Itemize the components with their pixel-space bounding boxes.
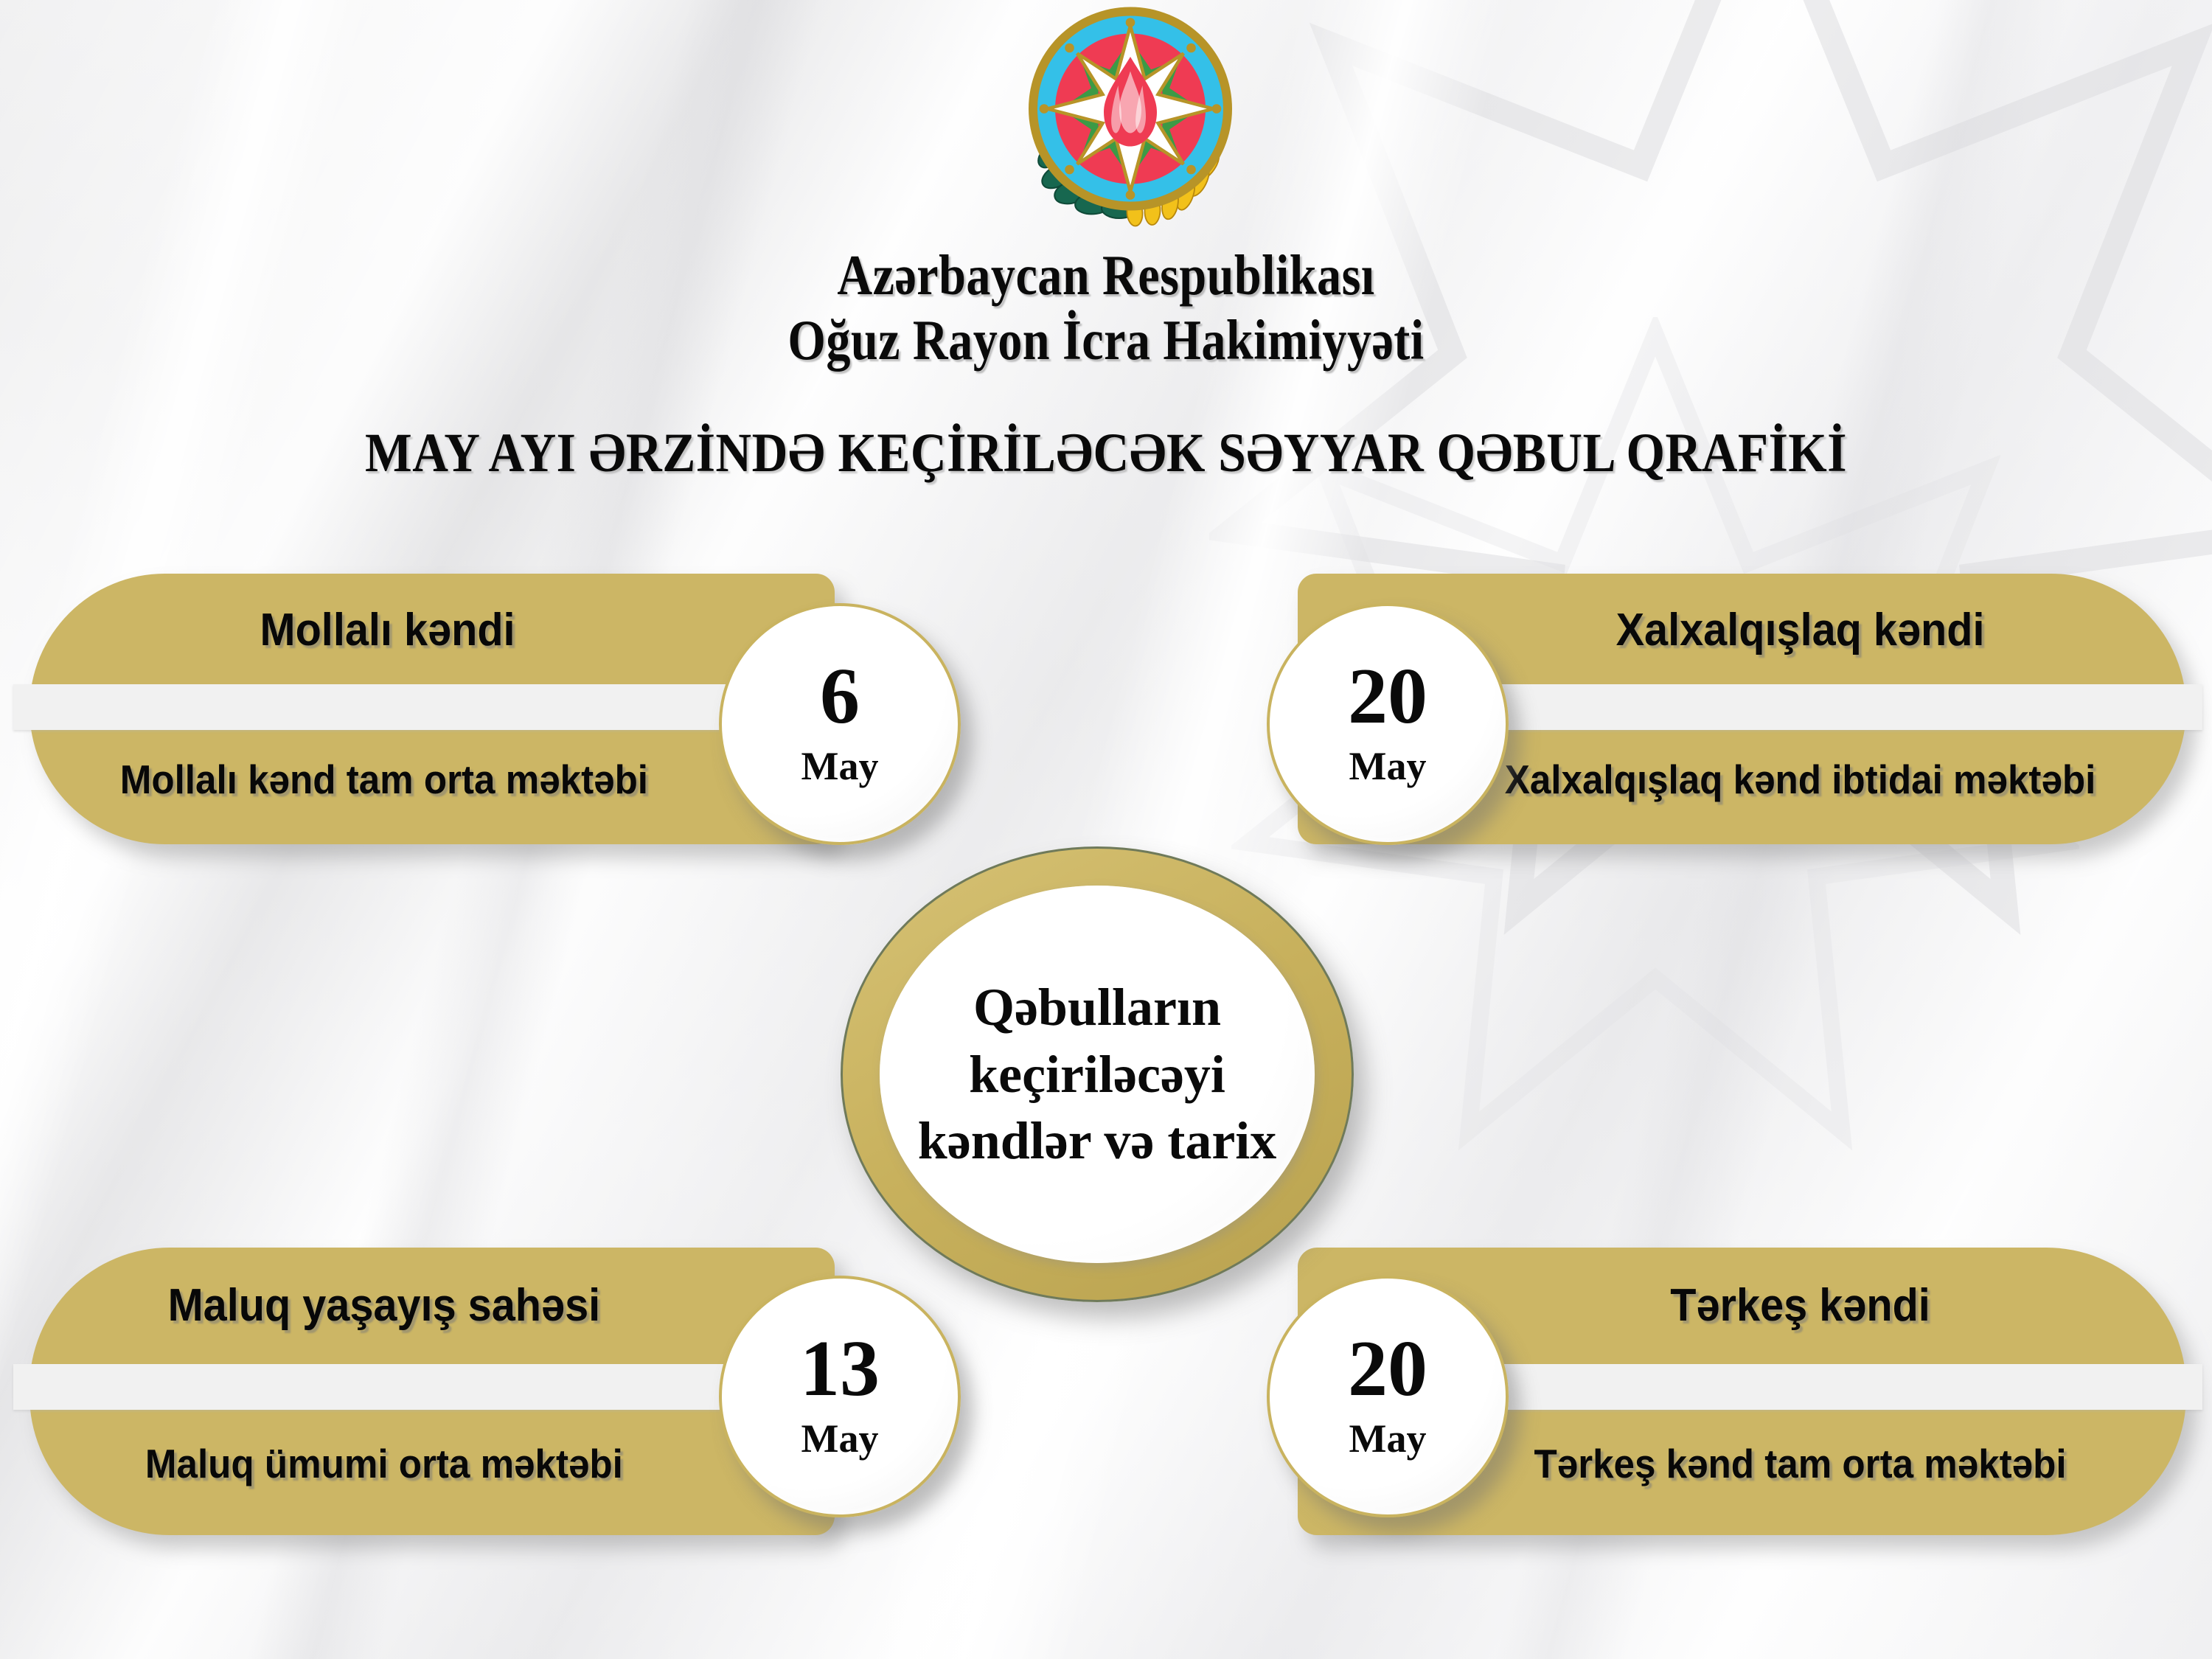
date-day: 20	[1348, 659, 1427, 735]
date-badge-bottom-left: 13 May	[719, 1276, 961, 1517]
date-month: May	[801, 1416, 879, 1461]
village-name: Mollalı kəndi	[58, 605, 807, 657]
center-hub-label: Qəbulların keçiriləcəyi kəndlər və tarix	[880, 974, 1315, 1175]
date-month: May	[1349, 743, 1427, 789]
date-badge-bottom-right: 20 May	[1267, 1276, 1509, 1517]
date-badge-top-left: 6 May	[719, 603, 961, 845]
date-month: May	[1349, 1416, 1427, 1461]
azerbaijan-coat-of-arms-icon	[1020, 6, 1241, 227]
center-hub-inner: Qəbulların keçiriləcəyi kəndlər və tarix	[880, 886, 1315, 1263]
date-day: 6	[820, 659, 860, 735]
date-badge-top-right: 20 May	[1267, 603, 1509, 845]
authority-name: Oğuz Rayon İcra Hakimiyyəti	[155, 308, 2057, 373]
venue-name: Mollalı kənd tam orta məktəbi	[58, 757, 807, 803]
infographic-poster: Azərbaycan Respublikası Oğuz Rayon İcra …	[0, 0, 2212, 1659]
date-day: 20	[1348, 1332, 1427, 1408]
date-month: May	[801, 743, 879, 789]
village-name: Maluq yaşayış sahəsi	[58, 1280, 807, 1332]
date-day: 13	[800, 1332, 880, 1408]
schedule-card-bottom-left: Maluq yaşayış sahəsi Maluq ümumi orta mə…	[29, 1248, 835, 1535]
page-title: MAY AYI ƏRZİNDƏ KEÇİRİLƏCƏK SƏYYAR QƏBUL…	[111, 422, 2101, 485]
organization-heading: Azərbaycan Respublikası Oğuz Rayon İcra …	[0, 243, 2212, 373]
center-hub: Qəbulların keçiriləcəyi kəndlər və tarix	[841, 846, 1354, 1302]
schedule-card-top-left: Mollalı kəndi Mollalı kənd tam orta məkt…	[29, 574, 835, 844]
venue-name: Maluq ümumi orta məktəbi	[58, 1441, 807, 1487]
country-name: Azərbaycan Respublikası	[155, 243, 2057, 308]
